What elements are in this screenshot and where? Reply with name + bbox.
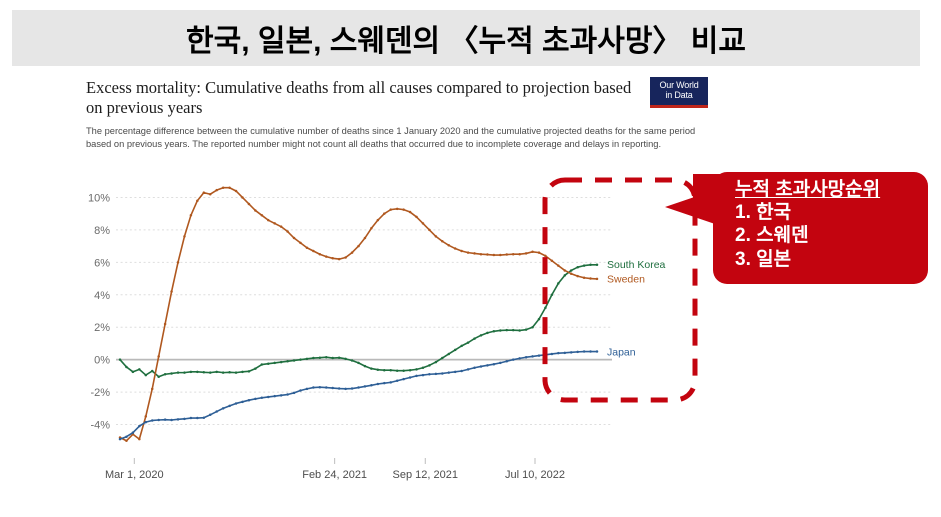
chart-subtitle: The percentage difference between the cu…	[86, 125, 698, 151]
callout-rank-1: 1. 한국	[735, 201, 928, 225]
ranking-callout: 누적 초과사망순위 1. 한국 2. 스웨덴 3. 일본	[713, 172, 928, 284]
logo-line-2: in Data	[665, 91, 692, 101]
our-world-in-data-logo: Our World in Data	[650, 77, 708, 108]
page-title: 한국, 일본, 스웨덴의 〈누적 초과사망〉 비교	[186, 16, 746, 60]
callout-heading: 누적 초과사망순위	[735, 179, 928, 201]
callout-rank-2: 2. 스웨덴	[735, 224, 928, 248]
chart-card: Excess mortality: Cumulative deaths from…	[86, 78, 706, 490]
callout-rank-3: 3. 일본	[735, 248, 928, 272]
callout-arrow-base	[693, 174, 733, 218]
chart-title: Excess mortality: Cumulative deaths from…	[86, 78, 646, 118]
header-banner: 한국, 일본, 스웨덴의 〈누적 초과사망〉 비교	[12, 10, 920, 66]
